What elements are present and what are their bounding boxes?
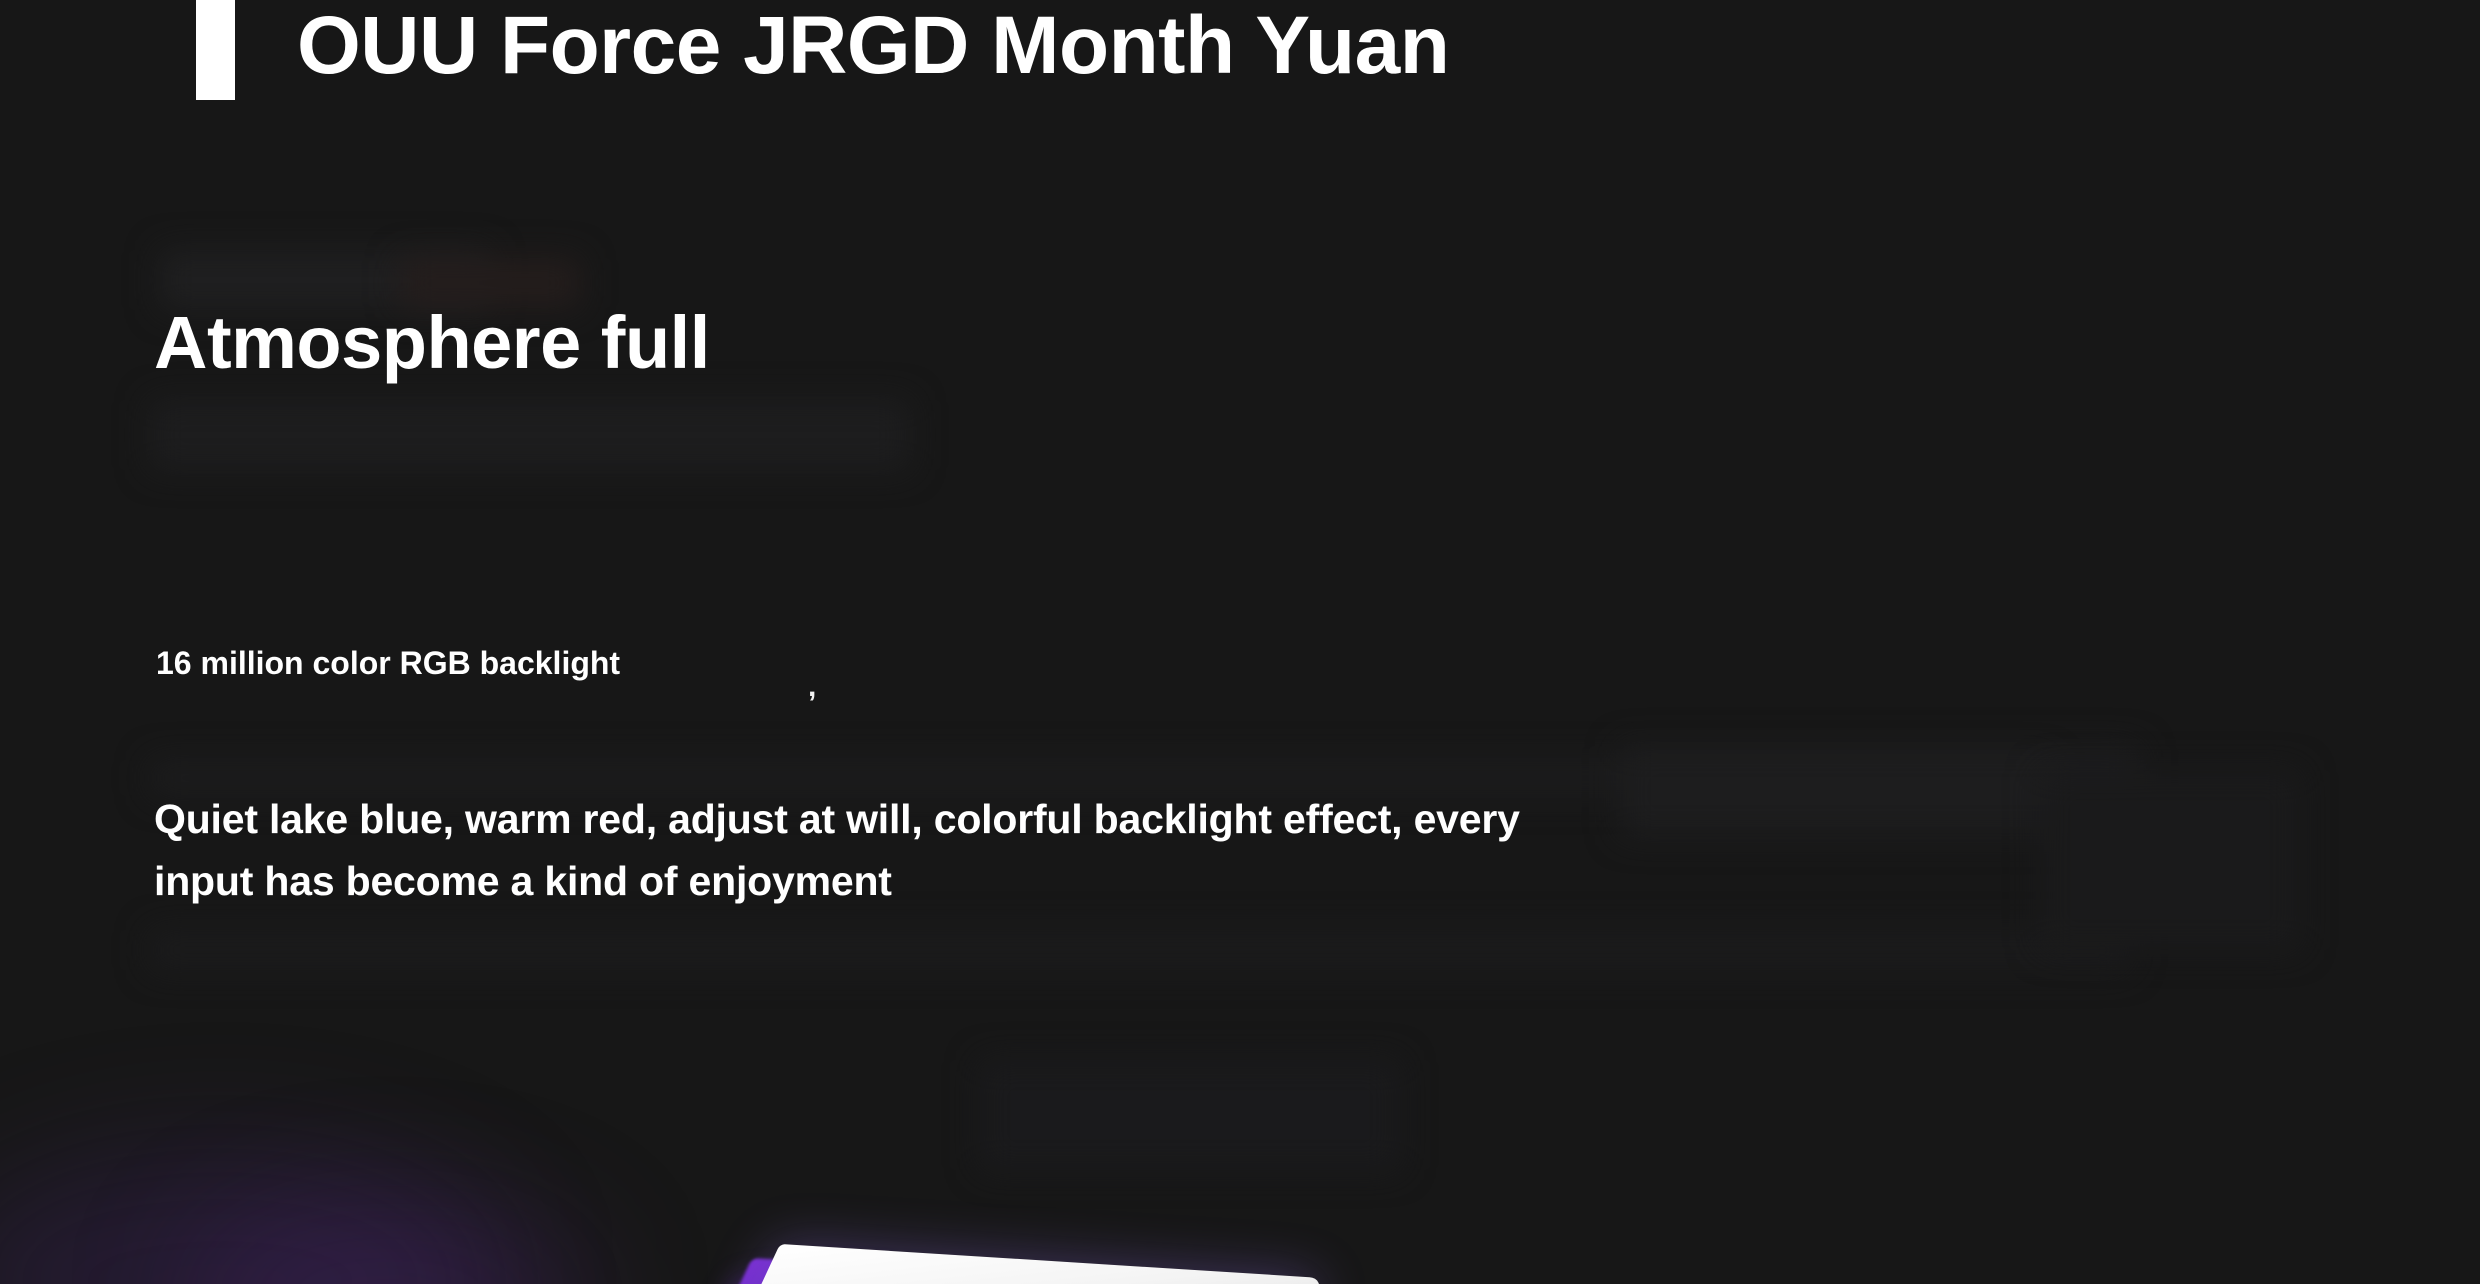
body-paragraph: Quiet lake blue, warm red, adjust at wil… [154, 788, 2154, 912]
accent-bar-icon [196, 0, 235, 100]
page-title: OUU Force JRGD Month Yuan [297, 0, 1449, 92]
body-line-2: input has become a kind of enjoyment [154, 850, 2154, 912]
keyboard-rgb-glow [730, 1268, 960, 1284]
slide-heading: OUU Force JRGD Month Yuan [196, 0, 1449, 100]
subtitle: Atmosphere full [154, 300, 710, 386]
keyboard-chassis [710, 1244, 1325, 1284]
background-ghost-artifacts [0, 0, 2480, 1284]
keyboard-rgb-edge [692, 1258, 898, 1284]
body-line-1: Quiet lake blue, warm red, adjust at wil… [154, 788, 2154, 850]
product-slide: OUU Force JRGD Month Yuan Atmosphere ful… [0, 0, 2480, 1284]
product-image-keyboard [690, 1244, 1390, 1284]
trailing-comma-mark: , [808, 672, 816, 702]
feature-label: 16 million color RGB backlight [156, 643, 620, 683]
